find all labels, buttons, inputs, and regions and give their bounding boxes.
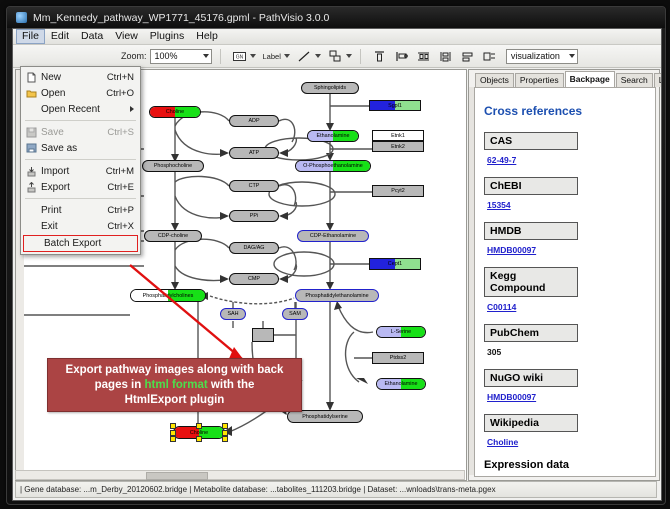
- pathway-node-lserine[interactable]: L-Serine: [376, 326, 426, 338]
- xref-section-title: CAS: [484, 132, 578, 150]
- menu-bar: File Edit Data View Plugins Help: [13, 29, 661, 45]
- pathway-node-label: Sphingolipids: [314, 85, 346, 91]
- pathway-node-phosphocholine[interactable]: Phosphocholine: [142, 160, 204, 172]
- align-left-icon[interactable]: [394, 49, 409, 64]
- callout-line-2-pre: pages in: [95, 379, 145, 391]
- side-panel-tabs: Objects Properties Backpage Search Legen…: [475, 72, 662, 87]
- pathway-node-label: Ethanolamine: [317, 133, 350, 139]
- pathway-node-label: Ethanolamine: [385, 381, 418, 387]
- menu-item-batch-export-label: Batch Export: [44, 238, 137, 249]
- menu-item-open-label: Open: [41, 88, 106, 99]
- menu-separator: [25, 198, 136, 199]
- menu-item-save[interactable]: Save Ctrl+S: [21, 124, 140, 140]
- menu-item-save-label: Save: [41, 127, 107, 138]
- pathway-node-etnk1[interactable]: Etnk1: [372, 130, 424, 141]
- xref-section-value[interactable]: HMDB00097: [484, 392, 646, 402]
- menu-item-new-label: New: [41, 72, 107, 83]
- visualization-combo[interactable]: visualization: [506, 49, 578, 64]
- pathway-node-label: ADP: [248, 118, 259, 124]
- side-panel: Objects Properties Backpage Search Legen…: [468, 69, 660, 481]
- scrollbar-thumb[interactable]: [146, 472, 208, 480]
- datanode-tool-group[interactable]: GN: [225, 49, 256, 64]
- menu-edit[interactable]: Edit: [45, 29, 75, 44]
- callout-highlight: html format: [144, 379, 207, 391]
- menu-item-exit-shortcut: Ctrl+X: [107, 221, 140, 232]
- expression-data-heading: Expression data: [484, 459, 646, 471]
- shape-icon[interactable]: [328, 49, 343, 64]
- zoom-label: Zoom:: [121, 51, 147, 61]
- menu-item-new-shortcut: Ctrl+N: [107, 72, 140, 83]
- pathvisio-icon: [16, 12, 27, 23]
- pathway-node-label: Phosphatidylserine: [302, 414, 348, 420]
- window-title: Mm_Kennedy_pathway_WP1771_45176.gpml - P…: [33, 12, 329, 24]
- pathway-node-label: Cept1: [388, 261, 402, 267]
- menu-item-save-as-label: Save as: [41, 143, 134, 154]
- xref-section: CAS62-49-7: [484, 132, 646, 165]
- pathway-node-label: ATP: [249, 150, 259, 156]
- pathway-node-label: CDP-Ethanolamine: [310, 233, 356, 239]
- selection-handle[interactable]: [170, 423, 176, 429]
- callout-line-2: pages in html format with the: [95, 378, 255, 393]
- new-file-icon: [21, 72, 41, 83]
- pathway-node-ptdss2[interactable]: Ptdss2: [372, 352, 424, 364]
- xref-section: ChEBI15354: [484, 177, 646, 210]
- xref-section: NuGO wikiHMDB00097: [484, 369, 646, 402]
- toolbar-separator: [220, 49, 221, 64]
- pathway-node-adp[interactable]: ADP: [229, 115, 279, 127]
- folder-open-icon: [21, 88, 41, 99]
- pathway-node-label: L-Serine: [391, 329, 411, 335]
- shape-tool-group[interactable]: [321, 49, 352, 64]
- pathway-node-choline[interactable]: Choline: [149, 106, 201, 118]
- menu-item-exit-label: Exit: [41, 221, 107, 232]
- pathway-node-label: Ptdss2: [390, 355, 406, 361]
- xref-link[interactable]: HMDB00097: [487, 245, 536, 255]
- callout-line-3: HtmlExport plugin: [125, 393, 225, 408]
- xref-section-title: NuGO wiki: [484, 369, 578, 387]
- cross-references-heading: Cross references: [484, 104, 646, 118]
- pathway-node-pcyt2[interactable]: Pcyt2: [372, 185, 424, 197]
- menu-file[interactable]: File: [16, 29, 45, 44]
- pathway-node-label: Phosphatidylethanolamine: [305, 293, 368, 299]
- pathway-node-label: CDP-choline: [158, 233, 188, 239]
- line-icon[interactable]: [297, 49, 312, 64]
- menu-item-print-shortcut: Ctrl+P: [107, 205, 140, 216]
- callout-line-1: Export pathway images along with back: [66, 363, 284, 378]
- xref-section: HMDBHMDB00097: [484, 222, 646, 255]
- xref-section-value: 305: [484, 347, 646, 357]
- tab-legend[interactable]: Legend: [654, 73, 662, 87]
- menu-item-exit[interactable]: Exit Ctrl+X: [21, 218, 140, 234]
- file-dropdown-menu: New Ctrl+N Open Ctrl+O Open Recent: [20, 66, 141, 255]
- bring-to-front-icon[interactable]: [482, 49, 497, 64]
- backpage-content: Cross references CAS62-49-7ChEBI15354HMD…: [474, 87, 656, 477]
- pathway-node-label: Sgpl1: [388, 103, 402, 109]
- pathway-node-ethanolamine2[interactable]: Ethanolamine: [376, 378, 426, 390]
- pathway-node-ppi[interactable]: PPi: [229, 210, 279, 222]
- selection-handle[interactable]: [170, 436, 176, 442]
- callout-line-2-post: with the: [208, 379, 255, 391]
- pathway-node-sam[interactable]: SAM: [282, 308, 308, 320]
- selection-handle[interactable]: [170, 430, 176, 436]
- pathway-node-label: Choline: [166, 109, 184, 115]
- chevron-down-icon: [203, 54, 209, 58]
- menu-help[interactable]: Help: [190, 29, 224, 44]
- pathway-node-phosphatidylethanolamine[interactable]: Phosphatidylethanolamine: [295, 289, 379, 302]
- cross-reference-list: CAS62-49-7ChEBI15354HMDBHMDB00097Kegg Co…: [484, 132, 646, 447]
- menu-item-export-shortcut: Ctrl+E: [107, 182, 140, 193]
- pathway-node-ctp[interactable]: CTP: [229, 180, 279, 192]
- tab-search[interactable]: Search: [616, 73, 653, 87]
- xref-section: PubChem305: [484, 324, 646, 357]
- xref-section-value[interactable]: HMDB00097: [484, 245, 646, 255]
- menu-plugins[interactable]: Plugins: [144, 29, 190, 44]
- xref-section-title: ChEBI: [484, 177, 578, 195]
- pathway-node-label: O-Phosphoethanolamine: [303, 163, 363, 169]
- pathway-node-phosphatidylcholines[interactable]: Phosphatidylcholines: [130, 289, 206, 302]
- pathway-node-label: CTP: [249, 183, 260, 189]
- menu-item-new[interactable]: New Ctrl+N: [21, 69, 140, 85]
- xref-link[interactable]: 62-49-7: [487, 155, 516, 165]
- zoom-combo[interactable]: 100%: [150, 49, 212, 64]
- xref-section-title: Wikipedia: [484, 414, 578, 432]
- selection-handle[interactable]: [222, 430, 228, 436]
- import-icon: [21, 166, 41, 177]
- selection-handle[interactable]: [222, 436, 228, 442]
- title-bar: Mm_Kennedy_pathway_WP1771_45176.gpml - P…: [7, 7, 665, 28]
- label-tool-label: Label: [263, 52, 281, 61]
- menu-item-save-as[interactable]: Save as: [21, 140, 140, 156]
- pathway-node-sah[interactable]: SAH: [220, 308, 246, 320]
- chevron-right-icon: [130, 106, 134, 112]
- pathway-node-label: Phosphatidylcholines: [143, 293, 194, 299]
- pathway-node-label: SAH: [227, 311, 238, 317]
- svg-text:GN: GN: [235, 54, 243, 60]
- menu-item-open[interactable]: Open Ctrl+O: [21, 85, 140, 101]
- menu-view[interactable]: View: [109, 29, 144, 44]
- menu-item-save-shortcut: Ctrl+S: [107, 127, 140, 138]
- label-tool-group[interactable]: Label: [256, 52, 290, 61]
- pathway-node-label: Phosphocholine: [154, 163, 192, 169]
- toolbar-separator: [360, 49, 361, 64]
- pathway-node-label: DAG/AG: [244, 245, 265, 251]
- tab-objects[interactable]: Objects: [475, 73, 514, 87]
- xref-section: Kegg CompoundC00114: [484, 267, 646, 312]
- xref-link[interactable]: 15354: [487, 200, 511, 210]
- xref-section: WikipediaCholine: [484, 414, 646, 447]
- export-icon: [21, 182, 41, 193]
- align-top-icon[interactable]: [372, 49, 387, 64]
- toolbar: Zoom: 100% GN Label: [13, 45, 661, 68]
- pathway-node-label: Pcyt2: [391, 188, 404, 194]
- menu-data[interactable]: Data: [75, 29, 109, 44]
- pathway-node-ethanolamine[interactable]: Ethanolamine: [307, 130, 359, 142]
- pathway-node-cept1[interactable]: Cept1: [369, 258, 421, 270]
- zoom-value: 100%: [155, 51, 178, 61]
- menu-item-print[interactable]: Print Ctrl+P: [21, 202, 140, 218]
- annotation-callout: Export pathway images along with back pa…: [47, 358, 302, 412]
- xref-link[interactable]: Choline: [487, 437, 518, 447]
- pathway-node-label: Etnk2: [391, 144, 405, 150]
- line-tool-group[interactable]: [290, 49, 321, 64]
- distribute-horizontal-icon[interactable]: [416, 49, 431, 64]
- pathway-node-label: SAM: [289, 311, 301, 317]
- pathway-node-cmp[interactable]: CMP: [229, 273, 279, 285]
- pathway-node-pemt[interactable]: [252, 328, 274, 342]
- menu-item-export-label: Export: [41, 182, 107, 193]
- xref-section-value[interactable]: 62-49-7: [484, 155, 646, 165]
- tab-properties[interactable]: Properties: [515, 73, 564, 87]
- canvas-horizontal-scrollbar[interactable]: [15, 470, 465, 480]
- menu-item-open-shortcut: Ctrl+O: [106, 88, 140, 99]
- pathway-node-etnk2[interactable]: Etnk2: [372, 141, 424, 152]
- xref-section-title: HMDB: [484, 222, 578, 240]
- menu-item-export[interactable]: Export Ctrl+E: [21, 179, 140, 195]
- selection-handle[interactable]: [222, 423, 228, 429]
- xref-section-value[interactable]: 15354: [484, 200, 646, 210]
- menu-item-import-label: Import: [41, 166, 106, 177]
- pathway-node-sgpl1[interactable]: Sgpl1: [369, 100, 421, 111]
- xref-section-value[interactable]: Choline: [484, 437, 646, 447]
- pathway-node-cdpcholine[interactable]: CDP-choline: [144, 230, 202, 242]
- pathway-node-cdpethanolamine[interactable]: CDP-Ethanolamine: [297, 230, 369, 242]
- xref-section-title: Kegg Compound: [484, 267, 578, 297]
- status-bar: | Gene database: ...m_Derby_20120602.bri…: [15, 481, 657, 498]
- pathway-node-label: Etnk1: [391, 133, 405, 139]
- menu-item-open-recent-label: Open Recent: [41, 104, 130, 115]
- pathway-node-label: Choline: [190, 430, 208, 436]
- xref-section-title: PubChem: [484, 324, 578, 342]
- tab-backpage[interactable]: Backpage: [565, 71, 615, 87]
- menu-item-import[interactable]: Import Ctrl+M: [21, 163, 140, 179]
- pathway-node-dagag[interactable]: DAG/AG: [229, 242, 279, 254]
- pathway-node-sphingolipids[interactable]: Sphingolipids: [301, 82, 359, 94]
- xref-section-value[interactable]: C00114: [484, 302, 646, 312]
- menu-separator: [25, 159, 136, 160]
- chevron-down-icon[interactable]: [346, 54, 352, 58]
- xref-link[interactable]: C00114: [487, 302, 516, 312]
- application-client-area: File Edit Data View Plugins Help Zoom: 1…: [12, 28, 662, 501]
- menu-item-print-label: Print: [41, 205, 107, 216]
- menu-separator: [25, 120, 136, 121]
- save-icon: [21, 127, 41, 138]
- pathway-node-label: CMP: [248, 276, 260, 282]
- pathway-node-ophosphoeth[interactable]: O-Phosphoethanolamine: [295, 160, 371, 172]
- distribute-vertical-icon[interactable]: [438, 49, 453, 64]
- application-window: Mm_Kennedy_pathway_WP1771_45176.gpml - P…: [6, 6, 666, 505]
- datanode-icon[interactable]: GN: [232, 49, 247, 64]
- xref-link[interactable]: HMDB00097: [487, 392, 536, 402]
- visualization-value: visualization: [511, 51, 560, 61]
- selection-handle[interactable]: [196, 423, 202, 429]
- pathway-node-atp[interactable]: ATP: [229, 147, 279, 159]
- chevron-down-icon: [569, 54, 575, 58]
- same-width-icon[interactable]: [460, 49, 475, 64]
- menu-item-import-shortcut: Ctrl+M: [106, 166, 140, 177]
- selection-handle[interactable]: [196, 436, 202, 442]
- menu-item-open-recent[interactable]: Open Recent: [21, 101, 140, 117]
- save-as-icon: [21, 143, 41, 154]
- pathway-node-label: PPi: [250, 213, 258, 219]
- menu-item-batch-export[interactable]: Batch Export: [23, 235, 138, 252]
